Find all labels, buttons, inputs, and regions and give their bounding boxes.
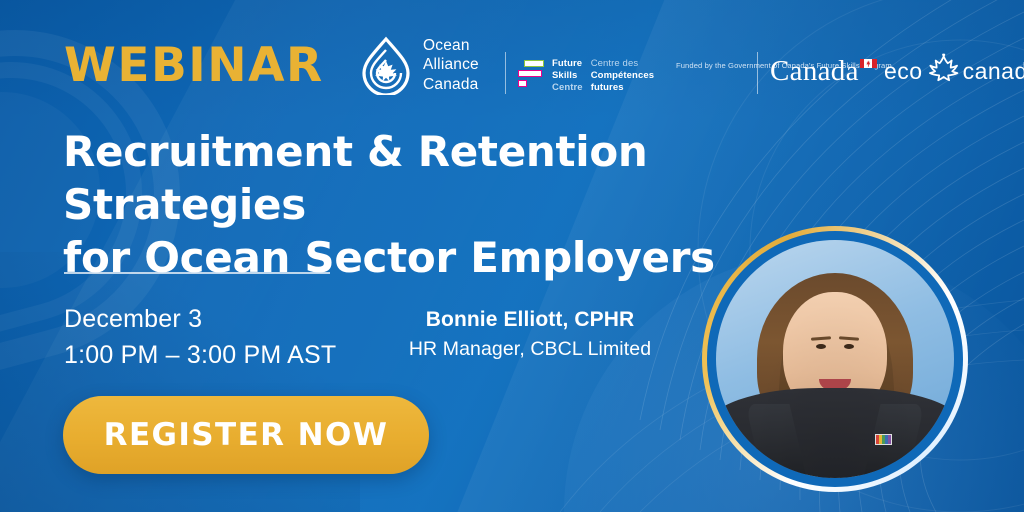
logo-future-skills-centre: Future Skills Centre Centre des Compéten…	[518, 58, 654, 94]
fsc-english-text: Future Skills Centre	[552, 58, 583, 94]
portrait-ring	[702, 226, 968, 492]
speaker-portrait	[702, 226, 968, 492]
event-date: December 3	[64, 302, 336, 338]
section-divider	[64, 272, 330, 274]
headline-line-1: Recruitment & Retention Strategies	[63, 127, 648, 229]
logo-divider-1	[505, 52, 506, 94]
logo-divider-2	[757, 52, 758, 94]
fsc-fr-line-2: Compétences	[591, 70, 654, 82]
event-datetime: December 3 1:00 PM – 3:00 PM AST	[64, 302, 336, 373]
stacked-bars-icon	[518, 58, 544, 90]
logo-header: WEBINAR Ocean Alliance Canada	[0, 0, 1024, 120]
speaker-role: HR Manager, CBCL Limited	[380, 338, 680, 361]
event-time: 1:00 PM – 3:00 PM AST	[64, 338, 336, 374]
fsc-en-line-1: Future	[552, 58, 583, 70]
canada-wordmark-text: Canada	[770, 57, 859, 86]
water-droplet-maple-leaf-icon	[358, 35, 414, 95]
maple-leaf-icon	[926, 52, 960, 86]
register-now-label: REGISTER NOW	[104, 417, 389, 453]
oac-line-1: Ocean	[423, 36, 479, 55]
logo-eco-canada: eco canada	[884, 52, 1024, 90]
oac-line-3: Canada	[423, 75, 479, 94]
webinar-promo-banner: WEBINAR Ocean Alliance Canada	[0, 0, 1024, 512]
speaker-name: Bonnie Elliott, CPHR	[380, 308, 680, 332]
eco-canada-word-2: canada	[963, 58, 1024, 85]
speaker-info: Bonnie Elliott, CPHR HR Manager, CBCL Li…	[380, 308, 680, 361]
register-now-button[interactable]: REGISTER NOW	[63, 396, 429, 474]
portrait-ring-inner	[707, 231, 963, 487]
eco-canada-word-1: eco	[884, 58, 923, 85]
fsc-fr-line-3: futures	[591, 82, 654, 94]
fsc-fr-line-1: Centre des	[591, 58, 654, 70]
avatar	[716, 240, 954, 478]
ocean-alliance-canada-text: Ocean Alliance Canada	[423, 36, 479, 94]
oac-line-2: Alliance	[423, 55, 479, 74]
kicker-webinar: WEBINAR	[64, 42, 324, 89]
canada-flag-icon	[860, 59, 877, 68]
fsc-french-text: Centre des Compétences futures	[591, 58, 654, 94]
logo-ocean-alliance-canada: Ocean Alliance Canada	[358, 35, 479, 95]
logo-canada-wordmark: Canada	[770, 57, 877, 86]
fsc-en-line-2: Skills	[552, 70, 583, 82]
portrait-vignette	[716, 240, 954, 478]
fsc-en-line-3: Centre	[552, 82, 583, 94]
